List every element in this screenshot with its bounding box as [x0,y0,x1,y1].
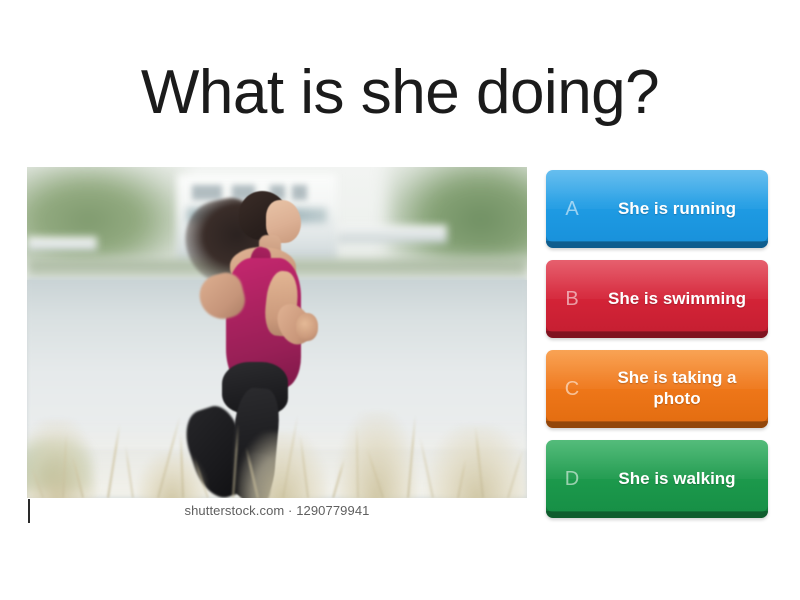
photo-grass-blade [366,449,384,498]
image-watermark: shutterstock.com · 1290779941 [27,498,527,522]
answer-letter-c: C [546,378,598,401]
answer-letter-a: A [546,198,598,221]
photo-grass-blade [332,458,345,498]
runner-fist [296,313,318,341]
answer-base-edge [546,331,768,338]
answer-text-a: She is running [598,199,768,220]
answer-option-a[interactable]: A She is running [546,170,768,248]
photo-grass-blade [125,445,134,498]
answer-option-d[interactable]: D She is walking [546,440,768,518]
photo-shed-left [27,237,97,252]
answer-text-b: She is swimming [598,289,768,310]
answer-options-list: A She is running B She is swimming C She… [546,170,768,518]
answer-text-d: She is walking [598,469,768,490]
photo-grass-blade [245,447,259,498]
photo-grass-blade [356,425,359,498]
photo-grass-blade [507,449,524,498]
answer-option-c[interactable]: C She is taking a photo [546,350,768,428]
answer-text-c: She is taking a photo [598,368,768,409]
answer-letter-d: D [546,468,598,491]
answer-option-b[interactable]: B She is swimming [546,260,768,338]
photo-grass-blade [407,415,416,498]
page-title: What is she doing? [0,62,800,124]
photo-trees-right [387,167,527,260]
photo-grass-blade [193,458,209,498]
answer-letter-b: B [546,288,598,311]
photo-grass-blade [474,426,484,498]
photo-grass-blade [232,424,239,498]
photo-grass-blade [457,458,467,498]
photo-grass-blade [62,434,67,498]
photo-grass-blades [27,412,527,498]
photo-grass-blade [180,434,184,498]
photo-jogging-woman [27,167,527,498]
photo-grass-blade [299,436,309,498]
photo-grass-blade [107,424,121,498]
answer-base-edge [546,241,768,248]
text-cursor-caret [28,499,30,523]
question-image [27,167,527,498]
photo-grass-blade [157,415,181,498]
quiz-slide: What is she doing? [0,0,800,600]
photo-grass-blade [419,437,434,498]
photo-grass-blade [31,467,44,498]
answer-base-edge [546,511,768,518]
photo-grass-blade [282,415,299,498]
photo-grass-blade [72,456,84,498]
answer-base-edge [546,421,768,428]
